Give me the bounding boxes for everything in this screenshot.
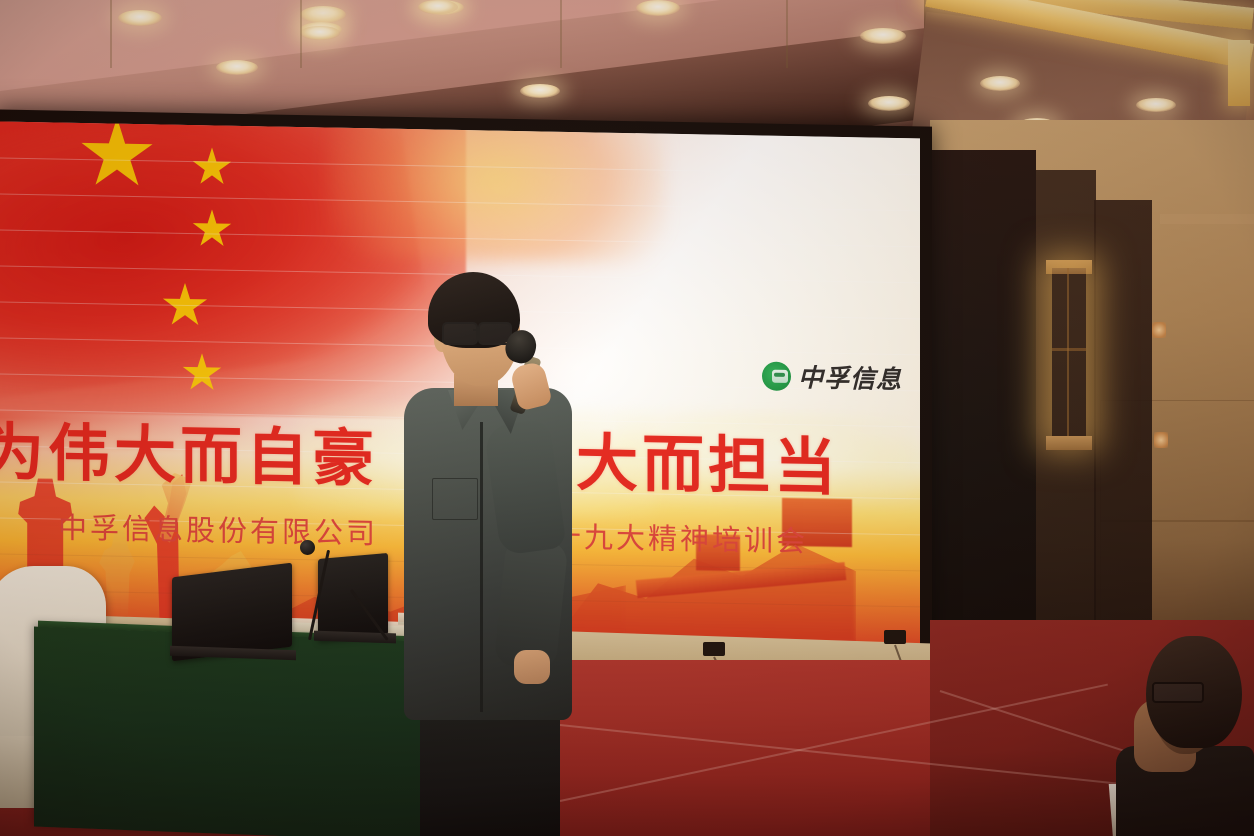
sconce-mullion [1052, 348, 1086, 351]
ceiling-downlight [860, 28, 906, 44]
wall-fixture-light [1152, 322, 1166, 338]
sconce-bottom-cap [1046, 436, 1092, 450]
stage-skirt-seam [786, 0, 788, 68]
ceiling-downlight [300, 26, 340, 40]
stage-skirt-seam [560, 0, 562, 68]
ceiling-downlight [636, 0, 680, 16]
company-logo: 中孚信息 [762, 357, 902, 396]
wall-fixture-light [1154, 432, 1168, 448]
wall-sconce [1052, 268, 1086, 438]
dark-pillar [1094, 200, 1152, 620]
ceiling-downlight [418, 0, 458, 14]
dark-curtain-panel [928, 150, 1036, 670]
desk-microphone-head [300, 540, 315, 555]
ceiling-downlight [520, 84, 560, 98]
sconce-mullion [1067, 268, 1069, 438]
shirt-pocket [432, 478, 478, 520]
audience-eyeglasses-icon [1152, 682, 1204, 703]
ceiling-gold-beam [1228, 40, 1250, 106]
wall-outlet [703, 642, 725, 656]
ceiling-downlight [300, 6, 346, 23]
banner-title-left: 为伟大而自豪 [0, 401, 378, 498]
zhongfu-circle-logo-icon [762, 361, 791, 391]
presentation-photo-scene: 中孚信息 为伟大而自豪 为伟大而担当 中孚信息股份有限公司 学习党的十九大精神培… [0, 0, 1254, 836]
ceiling-downlight [118, 10, 162, 26]
ceiling-downlight [868, 96, 910, 111]
speaker-person [392, 272, 582, 836]
wall-outlet [884, 630, 906, 644]
ceiling-downlight [980, 76, 1020, 91]
speaker-hand [514, 650, 550, 684]
stage-skirt-seam [110, 0, 112, 68]
stage-skirt-seam [300, 0, 302, 68]
eyeglasses-left-lens-icon [442, 322, 478, 345]
screen-glow [326, 121, 666, 263]
wall-light-slot [1160, 214, 1254, 224]
ceiling-downlight [216, 60, 258, 75]
ceiling-downlight [1136, 98, 1176, 112]
banner-subtitle-left: 中孚信息股份有限公司 [58, 505, 378, 553]
shirt-placket [480, 422, 483, 712]
eyeglasses-bridge-icon [473, 329, 480, 331]
company-logo-text: 中孚信息 [798, 358, 902, 396]
